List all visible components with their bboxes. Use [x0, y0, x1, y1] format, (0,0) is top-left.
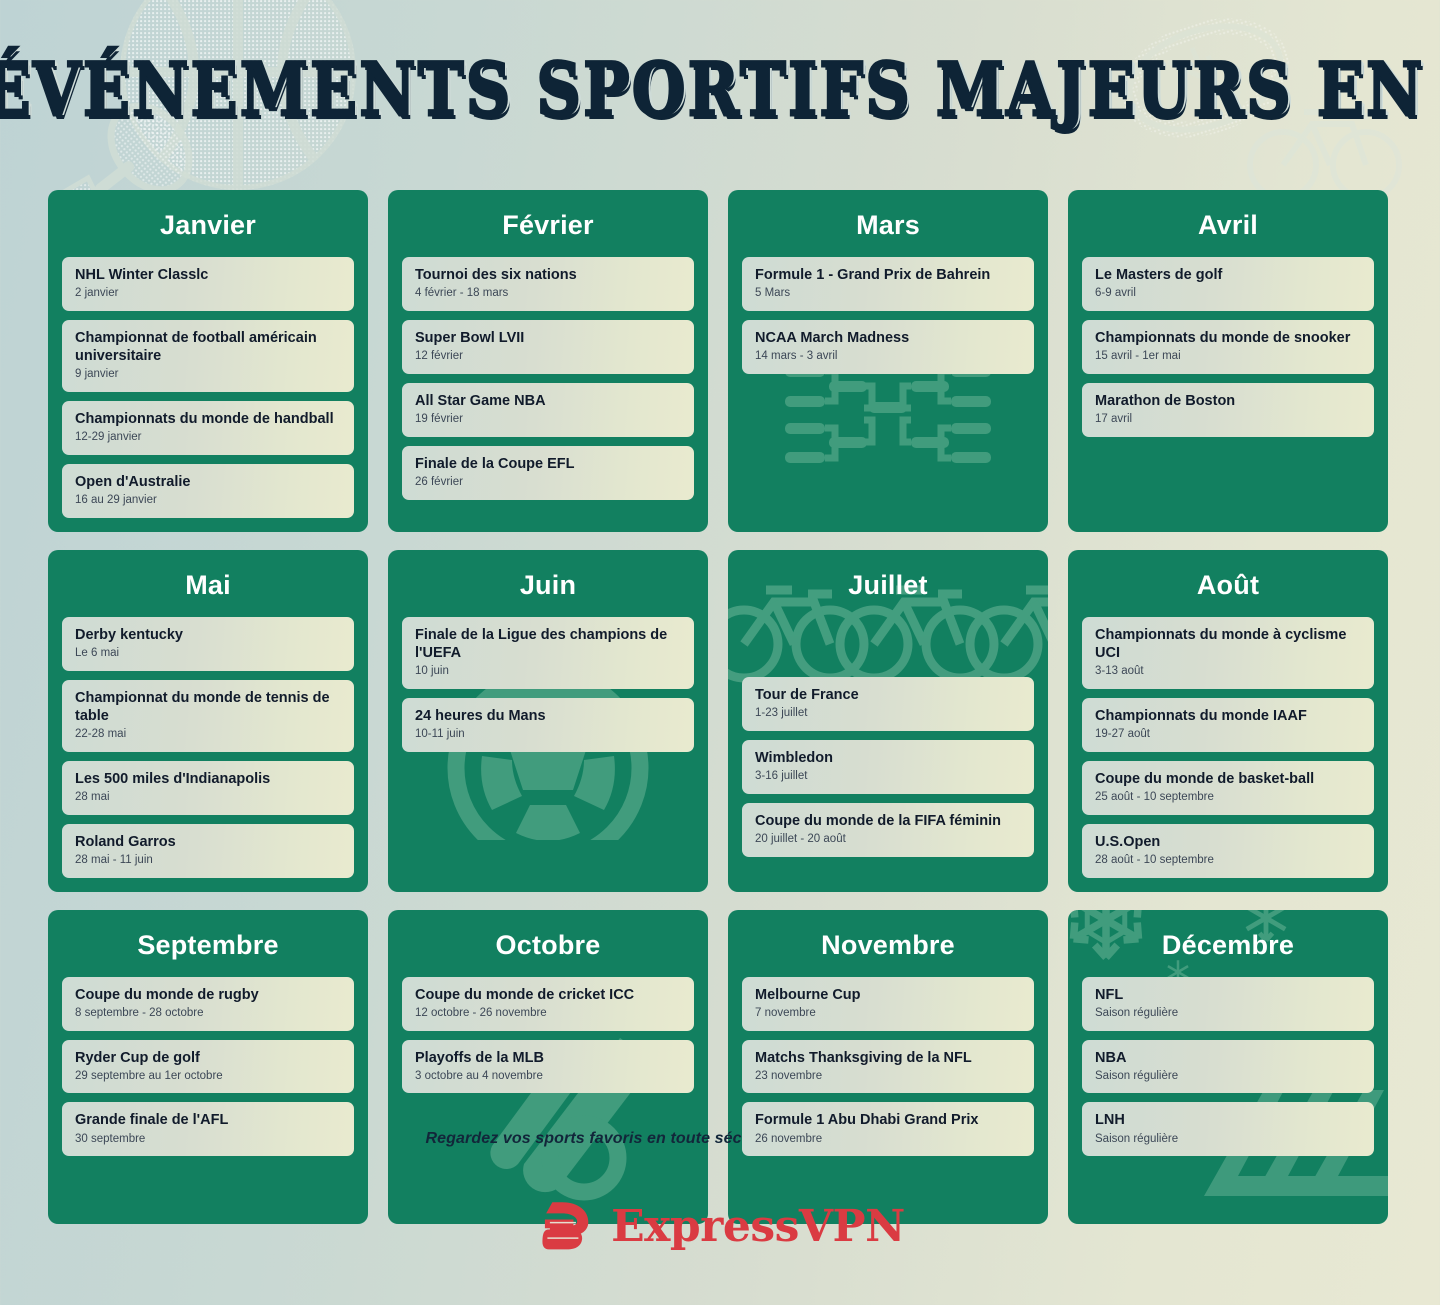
month-title: Septembre — [48, 910, 368, 977]
event-name: Coupe du monde de cricket ICC — [415, 986, 681, 1004]
month-card-juillet: Juillet Tour de France 1-23 juillet Wimb… — [728, 550, 1048, 892]
event-date: 16 au 29 janvier — [75, 494, 341, 508]
event-item[interactable]: Championnat du monde de tennis de table … — [62, 680, 354, 752]
event-item[interactable]: Wimbledon 3-16 juillet — [742, 740, 1034, 794]
event-date: 2 janvier — [75, 287, 341, 301]
events-list: NFL Saison régulière NBA Saison régulièr… — [1068, 977, 1388, 1157]
expressvpn-wordmark: ExpressVPN — [611, 1205, 905, 1249]
event-item[interactable]: Championnats du monde de snooker 15 avri… — [1082, 320, 1374, 374]
event-item[interactable]: Derby kentucky Le 6 mai — [62, 617, 354, 671]
month-title: Octobre — [388, 910, 708, 977]
events-list: Derby kentucky Le 6 mai Championnat du m… — [48, 617, 368, 878]
event-name: Championnats du monde à cyclisme UCI — [1095, 626, 1361, 662]
event-item[interactable]: Finale de la Coupe EFL 26 février — [402, 446, 694, 500]
events-list: Championnats du monde à cyclisme UCI 3-1… — [1068, 617, 1388, 878]
event-name: NFL — [1095, 986, 1361, 1004]
event-item[interactable]: Tour de France 1-23 juillet — [742, 677, 1034, 731]
event-name: All Star Game NBA — [415, 392, 681, 410]
month-card-juin: Juin Finale de la Ligue des champions de… — [388, 550, 708, 892]
events-list: Coupe du monde de cricket ICC 12 octobre… — [388, 977, 708, 1094]
event-name: Derby kentucky — [75, 626, 341, 644]
event-item[interactable]: NBA Saison régulière — [1082, 1040, 1374, 1094]
event-name: Championnat de football américain univer… — [75, 329, 341, 365]
event-name: Championnats du monde de snooker — [1095, 329, 1361, 347]
event-item[interactable]: Formule 1 - Grand Prix de Bahrein 5 Mars — [742, 257, 1034, 311]
expressvpn-mark-icon — [535, 1196, 597, 1258]
page-title-wrapper: ÉVÉNEMENTS SPORTIFS MAJEURS EN 2023 — [0, 48, 1440, 118]
events-list: Tour de France 1-23 juillet Wimbledon 3-… — [728, 617, 1048, 857]
event-name: Open d'Australie — [75, 473, 341, 491]
event-date: 4 février - 18 mars — [415, 287, 681, 301]
event-date: 26 février — [415, 476, 681, 490]
event-name: LNH — [1095, 1111, 1361, 1129]
event-date: 3-13 août — [1095, 665, 1361, 679]
event-item[interactable]: Roland Garros 28 mai - 11 juin — [62, 824, 354, 878]
event-date: 17 avril — [1095, 413, 1361, 427]
event-name: Marathon de Boston — [1095, 392, 1361, 410]
event-date: 19 février — [415, 413, 681, 427]
event-name: Tournoi des six nations — [415, 266, 681, 284]
event-date: 30 septembre — [75, 1133, 341, 1147]
event-date: 29 septembre au 1er octobre — [75, 1070, 341, 1084]
event-name: Championnats du monde IAAF — [1095, 707, 1361, 725]
event-item[interactable]: Super Bowl LVII 12 février — [402, 320, 694, 374]
month-card-octobre: Octobre Coupe du monde de cricket ICC 12… — [388, 910, 708, 1224]
month-card-decembre: Décembre NFL Saison régulière NBA Saison… — [1068, 910, 1388, 1224]
event-item[interactable]: NCAA March Madness 14 mars - 3 avril — [742, 320, 1034, 374]
events-list: Finale de la Ligue des champions de l'UE… — [388, 617, 708, 752]
event-name: NCAA March Madness — [755, 329, 1021, 347]
event-date: 12 octobre - 26 novembre — [415, 1007, 681, 1021]
month-card-avril: Avril Le Masters de golf 6-9 avril Champ… — [1068, 190, 1388, 532]
event-name: Formule 1 - Grand Prix de Bahrein — [755, 266, 1021, 284]
event-name: Finale de la Coupe EFL — [415, 455, 681, 473]
month-title: Mars — [728, 190, 1048, 257]
event-name: Tour de France — [755, 686, 1021, 704]
event-date: 23 novembre — [755, 1070, 1021, 1084]
event-name: Formule 1 Abu Dhabi Grand Prix — [755, 1111, 1021, 1129]
event-name: Le Masters de golf — [1095, 266, 1361, 284]
event-item[interactable]: Coupe du monde de basket-ball 25 août - … — [1082, 761, 1374, 815]
event-item[interactable]: Coupe du monde de la FIFA féminin 20 jui… — [742, 803, 1034, 857]
month-title: Décembre — [1068, 910, 1388, 977]
event-item[interactable]: LNH Saison régulière — [1082, 1102, 1374, 1156]
month-title: Juillet — [728, 550, 1048, 617]
event-name: Ryder Cup de golf — [75, 1049, 341, 1067]
event-date: 12-29 janvier — [75, 431, 341, 445]
event-date: 3 octobre au 4 novembre — [415, 1070, 681, 1084]
event-name: Coupe du monde de basket-ball — [1095, 770, 1361, 788]
event-name: Matchs Thanksgiving de la NFL — [755, 1049, 1021, 1067]
event-name: Coupe du monde de rugby — [75, 986, 341, 1004]
event-date: 10 juin — [415, 665, 681, 679]
event-date: 28 mai - 11 juin — [75, 854, 341, 868]
event-item[interactable]: Les 500 miles d'Indianapolis 28 mai — [62, 761, 354, 815]
event-date: 7 novembre — [755, 1007, 1021, 1021]
month-title: Juin — [388, 550, 708, 617]
event-name: Championnat du monde de tennis de table — [75, 689, 341, 725]
event-date: 15 avril - 1er mai — [1095, 350, 1361, 364]
months-grid: Janvier NHL Winter Classlc 2 janvier Cha… — [48, 190, 1398, 1224]
event-date: 20 juillet - 20 août — [755, 833, 1021, 847]
event-item[interactable]: Coupe du monde de rugby 8 septembre - 28… — [62, 977, 354, 1031]
month-title: Août — [1068, 550, 1388, 617]
events-list: Melbourne Cup 7 novembre Matchs Thanksgi… — [728, 977, 1048, 1157]
month-card-mars: Mars Formule 1 - Grand Prix de Bahrein 5… — [728, 190, 1048, 532]
month-card-fevrier: Février Tournoi des six nations 4 févrie… — [388, 190, 708, 532]
event-item[interactable]: Championnat de football américain univer… — [62, 320, 354, 392]
event-item[interactable]: All Star Game NBA 19 février — [402, 383, 694, 437]
event-name: NBA — [1095, 1049, 1361, 1067]
event-item[interactable]: Open d'Australie 16 au 29 janvier — [62, 464, 354, 518]
events-list: Le Masters de golf 6-9 avril Championnat… — [1068, 257, 1388, 437]
month-title: Janvier — [48, 190, 368, 257]
event-date: 25 août - 10 septembre — [1095, 791, 1361, 805]
event-date: Le 6 mai — [75, 647, 341, 661]
event-date: 26 novembre — [755, 1133, 1021, 1147]
event-item[interactable]: Championnats du monde à cyclisme UCI 3-1… — [1082, 617, 1374, 689]
event-item[interactable]: Ryder Cup de golf 29 septembre au 1er oc… — [62, 1040, 354, 1094]
event-item[interactable]: Coupe du monde de cricket ICC 12 octobre… — [402, 977, 694, 1031]
event-item[interactable]: Championnats du monde IAAF 19-27 août — [1082, 698, 1374, 752]
event-date: 10-11 juin — [415, 728, 681, 742]
event-date: 22-28 mai — [75, 728, 341, 742]
event-item[interactable]: Marathon de Boston 17 avril — [1082, 383, 1374, 437]
event-item[interactable]: Formule 1 Abu Dhabi Grand Prix 26 novemb… — [742, 1102, 1034, 1156]
month-card-novembre: Novembre Melbourne Cup 7 novembre Matchs… — [728, 910, 1048, 1224]
events-list: NHL Winter Classlc 2 janvier Championnat… — [48, 257, 368, 518]
event-name: 24 heures du Mans — [415, 707, 681, 725]
event-date: Saison régulière — [1095, 1133, 1361, 1147]
month-title: Mai — [48, 550, 368, 617]
event-item[interactable]: Grande finale de l'AFL 30 septembre — [62, 1102, 354, 1156]
event-date: 6-9 avril — [1095, 287, 1361, 301]
event-name: U.S.Open — [1095, 833, 1361, 851]
event-item[interactable]: Playoffs de la MLB 3 octobre au 4 novemb… — [402, 1040, 694, 1094]
event-name: Grande finale de l'AFL — [75, 1111, 341, 1129]
month-title: Avril — [1068, 190, 1388, 257]
month-title: Novembre — [728, 910, 1048, 977]
event-name: Wimbledon — [755, 749, 1021, 767]
event-name: Finale de la Ligue des champions de l'UE… — [415, 626, 681, 662]
event-date: 8 septembre - 28 octobre — [75, 1007, 341, 1021]
month-title: Février — [388, 190, 708, 257]
event-date: 19-27 août — [1095, 728, 1361, 742]
events-list: Tournoi des six nations 4 février - 18 m… — [388, 257, 708, 500]
event-date: Saison régulière — [1095, 1007, 1361, 1021]
expressvpn-logo[interactable]: ExpressVPN — [0, 1196, 1440, 1258]
event-date: 1-23 juillet — [755, 707, 1021, 721]
event-item[interactable]: NFL Saison régulière — [1082, 977, 1374, 1031]
month-card-aout: Août Championnats du monde à cyclisme UC… — [1068, 550, 1388, 892]
event-date: 28 mai — [75, 791, 341, 805]
event-item[interactable]: U.S.Open 28 août - 10 septembre — [1082, 824, 1374, 878]
event-item[interactable]: 24 heures du Mans 10-11 juin — [402, 698, 694, 752]
event-date: 28 août - 10 septembre — [1095, 854, 1361, 868]
event-name: Coupe du monde de la FIFA féminin — [755, 812, 1021, 830]
event-name: Super Bowl LVII — [415, 329, 681, 347]
month-card-septembre: Septembre Coupe du monde de rugby 8 sept… — [48, 910, 368, 1224]
event-item[interactable]: NHL Winter Classlc 2 janvier — [62, 257, 354, 311]
page-title: ÉVÉNEMENTS SPORTIFS MAJEURS EN 2023 — [0, 48, 1440, 133]
event-name: Playoffs de la MLB — [415, 1049, 681, 1067]
event-item[interactable]: Championnats du monde de handball 12-29 … — [62, 401, 354, 455]
event-name: Roland Garros — [75, 833, 341, 851]
month-card-janvier: Janvier NHL Winter Classlc 2 janvier Cha… — [48, 190, 368, 532]
event-date: 14 mars - 3 avril — [755, 350, 1021, 364]
event-date: 3-16 juillet — [755, 770, 1021, 784]
event-date: 9 janvier — [75, 368, 341, 382]
events-list: Coupe du monde de rugby 8 septembre - 28… — [48, 977, 368, 1157]
event-item[interactable]: Tournoi des six nations 4 février - 18 m… — [402, 257, 694, 311]
month-card-mai: Mai Derby kentucky Le 6 mai Championnat … — [48, 550, 368, 892]
event-name: Melbourne Cup — [755, 986, 1021, 1004]
event-item[interactable]: Matchs Thanksgiving de la NFL 23 novembr… — [742, 1040, 1034, 1094]
events-list: Formule 1 - Grand Prix de Bahrein 5 Mars… — [728, 257, 1048, 374]
event-date: Saison régulière — [1095, 1070, 1361, 1084]
event-date: 5 Mars — [755, 287, 1021, 301]
event-name: Les 500 miles d'Indianapolis — [75, 770, 341, 788]
event-name: NHL Winter Classlc — [75, 266, 341, 284]
event-date: 12 février — [415, 350, 681, 364]
event-item[interactable]: Finale de la Ligue des champions de l'UE… — [402, 617, 694, 689]
event-item[interactable]: Le Masters de golf 6-9 avril — [1082, 257, 1374, 311]
event-name: Championnats du monde de handball — [75, 410, 341, 428]
event-item[interactable]: Melbourne Cup 7 novembre — [742, 977, 1034, 1031]
